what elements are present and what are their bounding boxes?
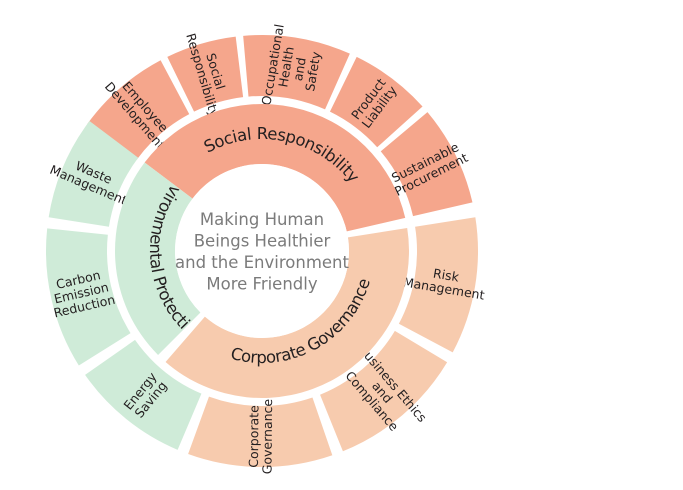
center-statement-line: Beings Healthier <box>194 231 331 250</box>
center-statement-line: and the Environment <box>175 253 349 272</box>
segment-label: CorporateGovernance <box>246 398 275 474</box>
center-statement-line: More Friendly <box>206 274 317 293</box>
sunburst-chart: EmployeeDevelopmentSocialResponsibilityO… <box>0 0 683 490</box>
center-statement-line: Making Human <box>200 210 324 229</box>
esg-sunburst-diagram: EmployeeDevelopmentSocialResponsibilityO… <box>0 0 683 490</box>
center-circle: Making HumanBeings Healthierand the Envi… <box>175 164 350 338</box>
center-disc <box>175 164 349 338</box>
segment-label-line: Governance <box>259 398 275 474</box>
